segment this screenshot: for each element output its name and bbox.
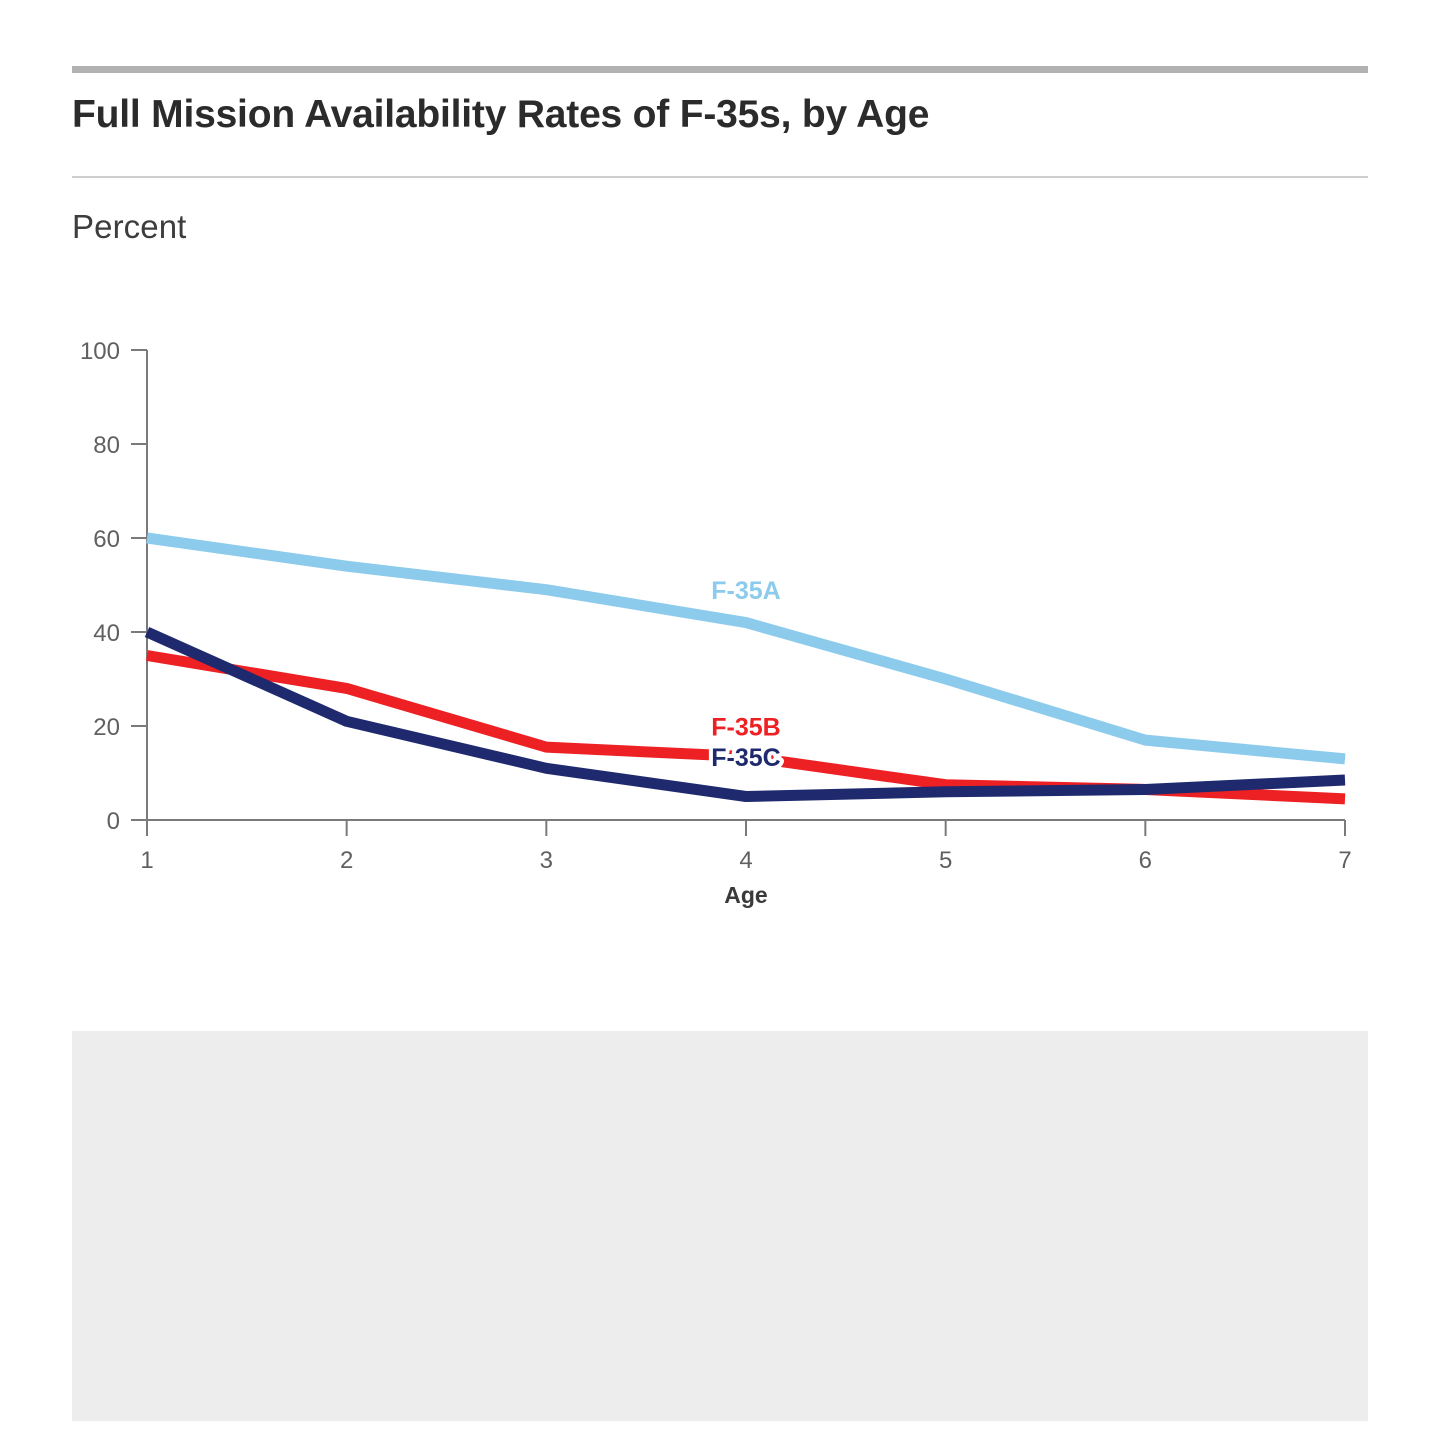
y-axis-tick-label: 20	[93, 714, 120, 741]
x-axis-tick-label: 1	[140, 847, 153, 874]
chart-svg: 020406080100 1234567 F-35AF-35AF-35BF-35…	[0, 0, 1440, 960]
caption-box: As all three variants of F-35s have aged…	[72, 1031, 1368, 1421]
y-axis-tick-label: 0	[107, 808, 120, 835]
line-chart: 020406080100 1234567 F-35AF-35AF-35BF-35…	[0, 0, 1440, 960]
x-axis-tick-label: 3	[540, 847, 553, 874]
series-inline-labels: F-35AF-35AF-35BF-35BF-35CF-35C	[711, 577, 780, 772]
x-axis-tick-label: 2	[340, 847, 353, 874]
x-axis-ticks	[147, 820, 1345, 836]
series-label-f-35b: F-35B	[711, 713, 780, 741]
series-label-f-35a: F-35A	[711, 577, 780, 605]
y-axis-tick-label: 60	[93, 526, 120, 553]
y-axis-tick-label: 80	[93, 432, 120, 459]
x-axis-tick-label: 5	[939, 847, 952, 874]
x-axis-tick-labels: 1234567	[140, 847, 1351, 874]
x-axis-tick-label: 7	[1338, 847, 1351, 874]
x-axis-title: Age	[724, 882, 767, 908]
y-axis-tick-labels: 020406080100	[80, 338, 120, 835]
y-axis-tick-label: 100	[80, 338, 120, 365]
x-axis-tick-label: 6	[1139, 847, 1152, 874]
y-axis-ticks	[131, 350, 147, 820]
y-axis-tick-label: 40	[93, 620, 120, 647]
chart-page: Full Mission Availability Rates of F-35s…	[0, 0, 1440, 1444]
series-label-f-35c: F-35C	[711, 744, 780, 772]
x-axis-tick-label: 4	[739, 847, 752, 874]
